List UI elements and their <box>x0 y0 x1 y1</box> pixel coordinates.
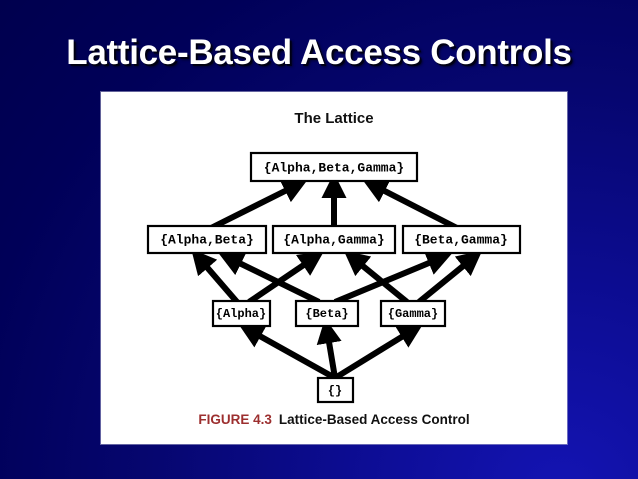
edge-alpha-beta-to-top <box>211 185 297 228</box>
node-label: {Gamma} <box>388 307 438 321</box>
edge-empty-to-gamma <box>335 330 413 378</box>
node-beta-gamma: {Beta,Gamma} <box>403 226 520 253</box>
node-alpha-gamma: {Alpha,Gamma} <box>273 226 395 253</box>
node-alpha-beta-gamma: {Alpha,Beta,Gamma} <box>251 153 417 181</box>
node-alpha: {Alpha} <box>213 301 270 326</box>
edge-group-level2-to-level1 <box>199 258 473 302</box>
node-label: {Alpha,Gamma} <box>283 232 384 247</box>
edge-gamma-to-alpha-gamma <box>353 258 407 302</box>
node-label: {Alpha,Beta} <box>160 232 254 247</box>
node-label: {} <box>328 384 342 398</box>
figure-caption: FIGURE 4.3Lattice-Based Access Control <box>101 412 567 427</box>
node-label: {Beta} <box>305 307 348 321</box>
node-alpha-beta: {Alpha,Beta} <box>148 226 266 253</box>
edge-empty-to-alpha <box>249 330 335 378</box>
node-beta: {Beta} <box>296 301 358 326</box>
figure-heading: The Lattice <box>101 110 567 127</box>
edge-group-level3-to-level2 <box>249 330 413 378</box>
slide: Lattice-Based Access Controls The Lattic… <box>0 0 638 479</box>
figure-panel: The Lattice <box>101 92 567 444</box>
page-title: Lattice-Based Access Controls <box>0 33 638 73</box>
node-label: {Beta,Gamma} <box>414 232 508 247</box>
lattice-diagram: {Alpha,Beta,Gamma} {Alpha,Beta} {Alpha,G… <box>101 140 567 410</box>
figure-title: Lattice-Based Access Control <box>279 412 470 427</box>
node-gamma: {Gamma} <box>381 301 445 326</box>
node-label: {Alpha,Beta,Gamma} <box>264 160 404 175</box>
edge-alpha-to-alpha-beta <box>199 258 237 302</box>
node-empty-set: {} <box>318 378 353 402</box>
figure-number: FIGURE 4.3 <box>198 412 272 427</box>
edge-beta-gamma-to-top <box>373 185 457 228</box>
node-label: {Alpha} <box>216 307 266 321</box>
edge-group-level1-to-level0 <box>211 185 457 228</box>
